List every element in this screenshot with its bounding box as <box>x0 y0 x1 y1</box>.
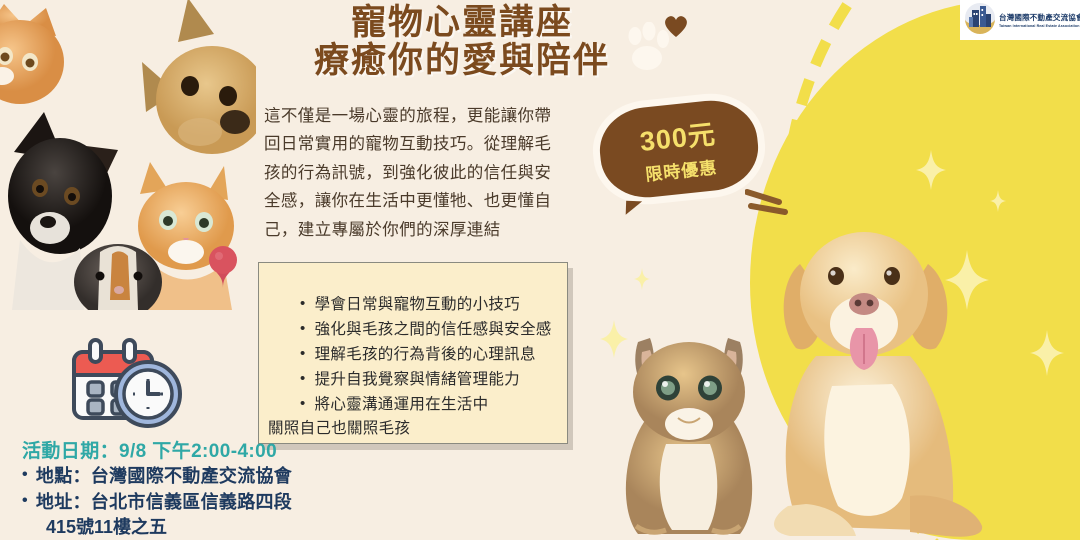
association-logo: 台灣國際不動產交流協會 Taiwan International Real Es… <box>960 0 1080 40</box>
map-pin-icon <box>206 244 240 293</box>
benefit-text: 理解毛孩的行為背後的心理訊息 <box>315 342 536 367</box>
list-item: • 強化與毛孩之間的信任感與安全感 <box>300 317 580 342</box>
list-item: • 理解毛孩的行為背後的心理訊息 <box>300 342 580 367</box>
benefit-text: 學會日常與寵物互動的小技巧 <box>315 292 520 317</box>
event-date: 活動日期：9/8 下午2:00-4:00 <box>22 436 277 463</box>
heart-icon <box>663 14 689 43</box>
list-item: • 地址：台北市信義區信義路四段 <box>22 490 322 516</box>
event-venue: 地點：台灣國際不動產交流協會 <box>36 464 292 490</box>
bullet-icon: • <box>300 292 306 316</box>
bullet-icon: • <box>300 317 306 341</box>
logo-text: 台灣國際不動產交流協會 Taiwan International Real Es… <box>999 12 1080 28</box>
intro-paragraph: 這不僅是一場心靈的旅程，更能讓你帶回日常實用的寵物互動技巧。從理解毛孩的行為訊號… <box>264 102 554 244</box>
sparkle-icon <box>1030 330 1064 376</box>
photo-shepherd-dog <box>142 0 256 154</box>
price-amount: 300元 <box>638 112 718 159</box>
poster-canvas: 寵物心靈講座 療癒你的愛與陪伴 這不僅是一場心靈的旅程，更能讓你帶回日常實用的寵… <box>0 0 1080 540</box>
benefit-text: 強化與毛孩之間的信任感與安全感 <box>315 317 552 342</box>
photo-orange-cat <box>0 4 64 104</box>
photo-fluffy-kitten <box>614 316 764 540</box>
bullet-icon: • <box>300 342 306 366</box>
price-note: 限時優惠 <box>644 153 718 185</box>
list-item: • 學會日常與寵物互動的小技巧 <box>300 292 580 317</box>
event-address: 地址：台北市信義區信義路四段 <box>36 490 292 516</box>
benefits-footer: 關照自己也關照毛孩 <box>268 416 410 438</box>
benefit-text: 提升自我覺察與情緒管理能力 <box>315 367 520 392</box>
bullet-icon: • <box>22 490 28 513</box>
bullet-icon: • <box>300 392 306 416</box>
building-logo-icon <box>964 2 996 39</box>
logo-name-cn: 台灣國際不動產交流協會 <box>999 12 1080 23</box>
event-address-continuation: 415號11樓之五 <box>46 515 322 540</box>
sparkle-icon <box>634 268 650 290</box>
list-item: • 地點：台灣國際不動產交流協會 <box>22 464 322 490</box>
sparkle-icon <box>916 150 946 190</box>
photo-guinea-pig <box>74 244 162 310</box>
benefits-list: • 學會日常與寵物互動的小技巧 • 強化與毛孩之間的信任感與安全感 • 理解毛孩… <box>300 292 580 418</box>
sparkle-icon <box>990 190 1006 212</box>
event-info-list: • 地點：台灣國際不動產交流協會 • 地址：台北市信義區信義路四段 415號11… <box>22 464 322 540</box>
list-item: • 將心靈溝通運用在生活中 <box>300 392 580 417</box>
bullet-icon: • <box>22 464 28 487</box>
bullet-icon: • <box>300 367 306 391</box>
benefit-text: 將心靈溝通運用在生活中 <box>315 392 489 417</box>
poster-title: 寵物心靈講座 療癒你的愛與陪伴 <box>262 4 662 80</box>
title-line-1: 寵物心靈講座 <box>262 4 662 42</box>
title-line-2: 療癒你的愛與陪伴 <box>262 42 662 80</box>
photo-golden-retriever <box>760 206 990 540</box>
list-item: • 提升自我覺察與情緒管理能力 <box>300 367 580 392</box>
calendar-clock-icon <box>62 338 184 435</box>
logo-name-en: Taiwan International Real Estate Associa… <box>999 24 1080 28</box>
